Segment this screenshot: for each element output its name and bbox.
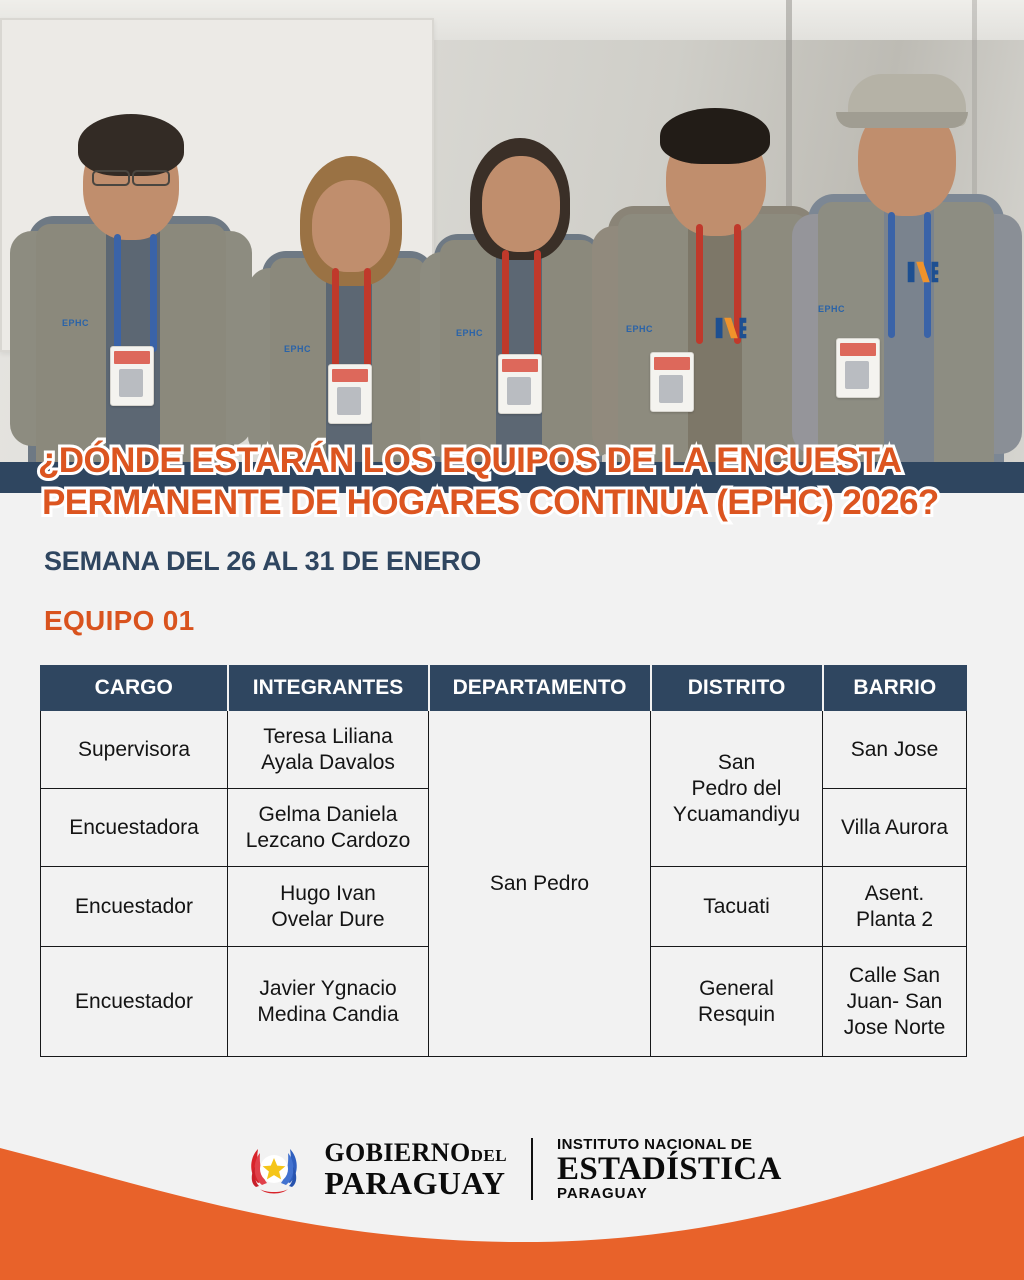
cell-distrito: GeneralResquin — [651, 947, 823, 1057]
cell-barrio: San Jose — [823, 711, 967, 789]
paraguay-word: PARAGUAY — [324, 1167, 507, 1199]
cell-departamento: San Pedro — [429, 711, 651, 1057]
ine-line-3: PARAGUAY — [557, 1186, 782, 1202]
table-row: Supervisora Teresa LilianaAyala Davalos … — [41, 711, 967, 789]
logo-divider — [531, 1138, 533, 1200]
cell-integrantes: Teresa LilianaAyala Davalos — [228, 711, 429, 789]
ine-logo-vest-2 — [906, 260, 940, 284]
cell-integrantes: Hugo IvanOvelar Dure — [228, 867, 429, 947]
table-header-row: CARGO INTEGRANTES DEPARTAMENTO DISTRITO … — [41, 666, 967, 711]
ine-logo-vest — [714, 316, 748, 340]
ine-line-1: INSTITUTO NACIONAL DE — [557, 1137, 782, 1153]
gobierno-word: GOBIERNO — [324, 1138, 470, 1167]
poster-root: EPHC EPHC — [0, 0, 1024, 1280]
glasses — [92, 170, 130, 186]
del-word: DEL — [471, 1146, 507, 1165]
gobierno-paraguay-wordmark: GOBIERNODEL PARAGUAY — [324, 1140, 507, 1199]
col-header-barrio: BARRIO — [823, 666, 967, 711]
cell-distrito: Tacuati — [651, 867, 823, 947]
assignments-table: CARGO INTEGRANTES DEPARTAMENTO DISTRITO … — [40, 665, 967, 1057]
cell-cargo: Encuestador — [41, 947, 228, 1057]
cell-cargo: Supervisora — [41, 711, 228, 789]
cell-integrantes: Gelma DanielaLezcano Cardozo — [228, 789, 429, 867]
cell-barrio: Villa Aurora — [823, 789, 967, 867]
col-header-cargo: CARGO — [41, 666, 228, 711]
col-header-distrito: DISTRITO — [651, 666, 823, 711]
week-label: SEMANA DEL 26 AL 31 DE ENERO — [44, 546, 481, 577]
id-badge — [110, 346, 154, 406]
assignments-table-wrapper: CARGO INTEGRANTES DEPARTAMENTO DISTRITO … — [40, 665, 966, 1057]
team-photo: EPHC EPHC — [0, 0, 1024, 466]
person-5: EPHC — [792, 46, 1022, 466]
col-header-integrantes: INTEGRANTES — [228, 666, 429, 711]
cell-integrantes: Javier YgnacioMedina Candia — [228, 947, 429, 1057]
headline-line-2: PERMANENTE DE HOGARES CONTINUA (EPHC) 20… — [38, 482, 988, 524]
cell-barrio: Asent.Planta 2 — [823, 867, 967, 947]
cell-barrio: Calle SanJuan- SanJose Norte — [823, 947, 967, 1057]
cell-cargo: Encuestadora — [41, 789, 228, 867]
headline-line-1: ¿DÓNDE ESTARÁN LOS EQUIPOS DE LA ENCUEST… — [38, 440, 988, 482]
person-1: EPHC — [10, 66, 250, 466]
ine-wordmark: INSTITUTO NACIONAL DE ESTADÍSTICA PARAGU… — [557, 1137, 782, 1203]
col-header-departamento: DEPARTAMENTO — [429, 666, 651, 711]
person-3: EPHC — [420, 86, 615, 466]
footer-logos: GOBIERNODEL PARAGUAY INSTITUTO NACIONAL … — [0, 1137, 1024, 1203]
ine-line-2: ESTADÍSTICA — [557, 1152, 782, 1186]
paraguay-coat-of-arms-icon — [242, 1137, 306, 1201]
person-2: EPHC — [248, 96, 448, 466]
cell-cargo: Encuestador — [41, 867, 228, 947]
cell-distrito: SanPedro delYcuamandiyu — [651, 711, 823, 867]
headline: ¿DÓNDE ESTARÁN LOS EQUIPOS DE LA ENCUEST… — [38, 440, 988, 524]
team-label: EQUIPO 01 — [44, 605, 195, 637]
